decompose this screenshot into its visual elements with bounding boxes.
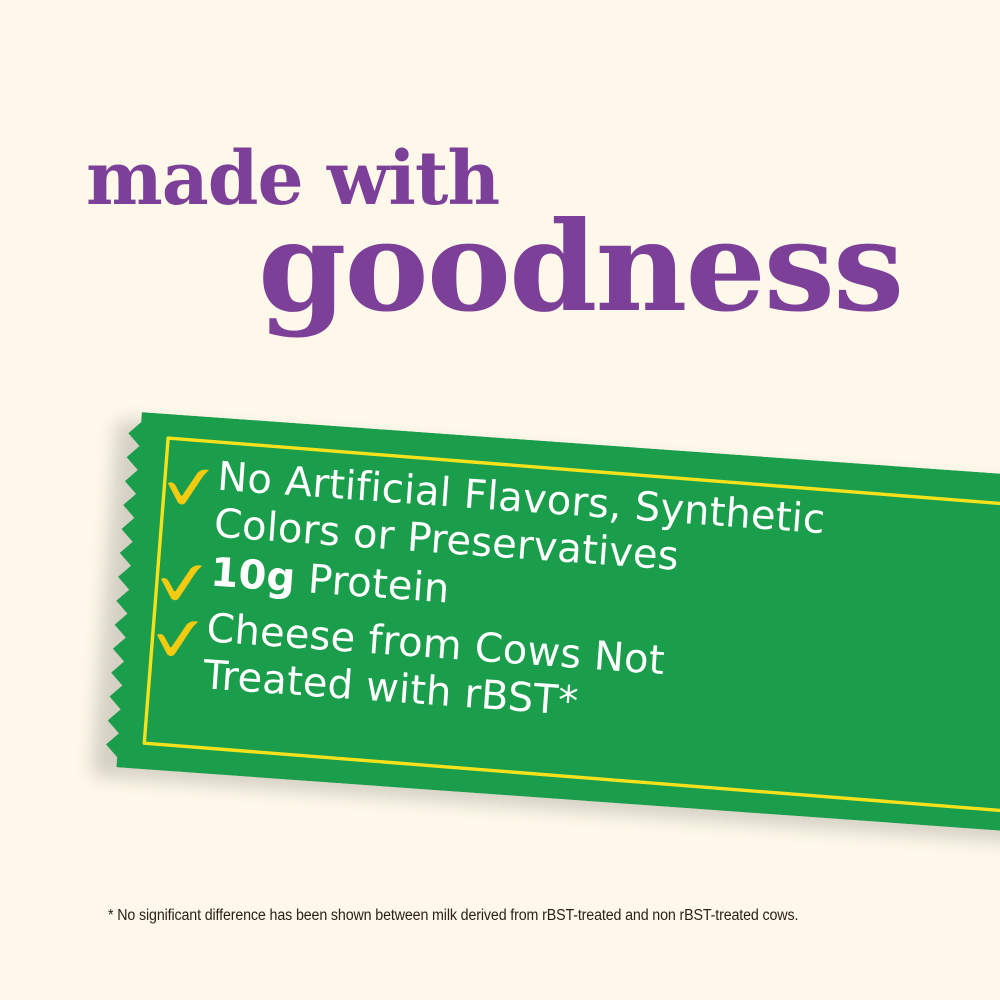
headline-line-goodness: goodness [258, 206, 902, 330]
banner-content: No Artificial Flavors, Synthetic Colors … [87, 410, 1000, 832]
promo-graphic: made with goodness No Artificial Flavors… [0, 0, 1000, 1000]
benefit-protein-amount: 10g [209, 550, 297, 602]
green-wrapper-banner: No Artificial Flavors, Synthetic Colors … [85, 410, 1000, 856]
footnote-disclaimer: * No significant difference has been sho… [108, 906, 918, 926]
checkmark-icon [163, 464, 212, 507]
checkmark-icon [153, 616, 202, 659]
benefit-protein-label: Protein [294, 556, 451, 613]
checkmark-icon [157, 560, 206, 603]
benefit-list: No Artificial Flavors, Synthetic Colors … [150, 450, 1000, 760]
